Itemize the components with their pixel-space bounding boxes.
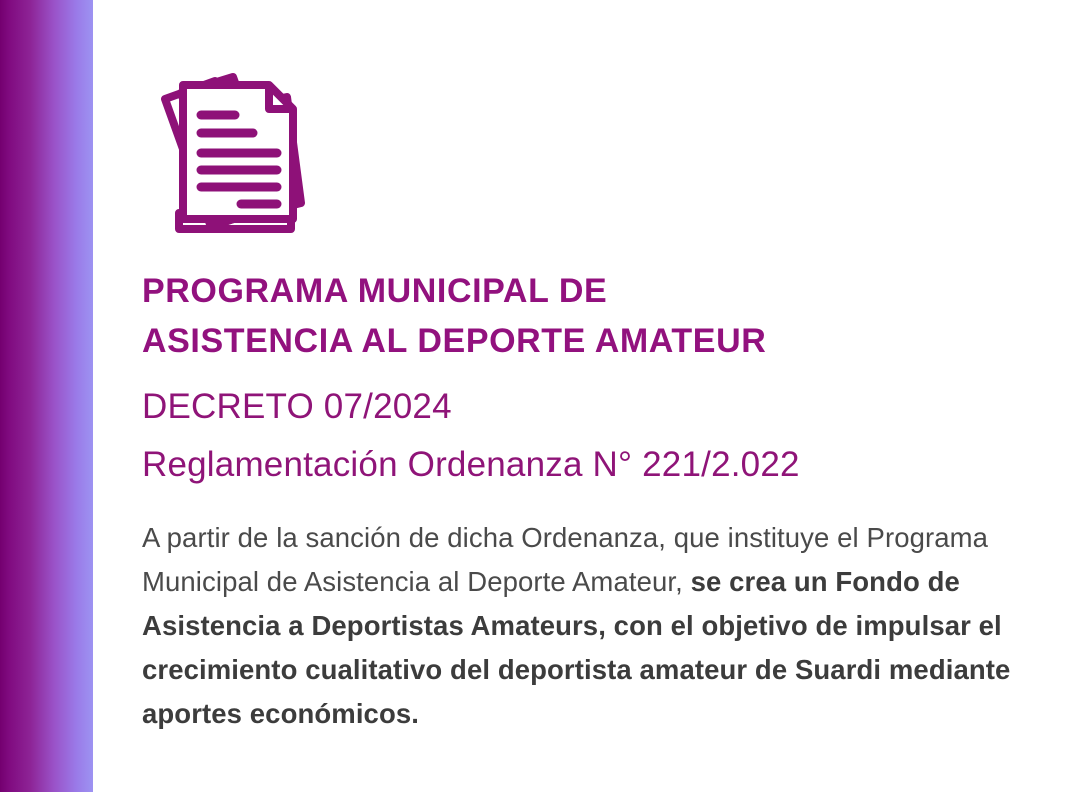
content-column: PROGRAMA MUNICIPAL DE ASISTENCIA AL DEPO… bbox=[141, 0, 1066, 792]
stacked-documents-icon bbox=[141, 63, 319, 243]
page-title: PROGRAMA MUNICIPAL DE ASISTENCIA AL DEPO… bbox=[142, 266, 1042, 366]
decree-subtitle: DECRETO 07/2024 Reglamentación Ordenanza… bbox=[142, 378, 1042, 494]
announcement-card: PROGRAMA MUNICIPAL DE ASISTENCIA AL DEPO… bbox=[0, 0, 1080, 792]
gradient-accent-bar bbox=[0, 0, 93, 792]
body-paragraph: A partir de la sanción de dicha Ordenanz… bbox=[142, 516, 1057, 736]
